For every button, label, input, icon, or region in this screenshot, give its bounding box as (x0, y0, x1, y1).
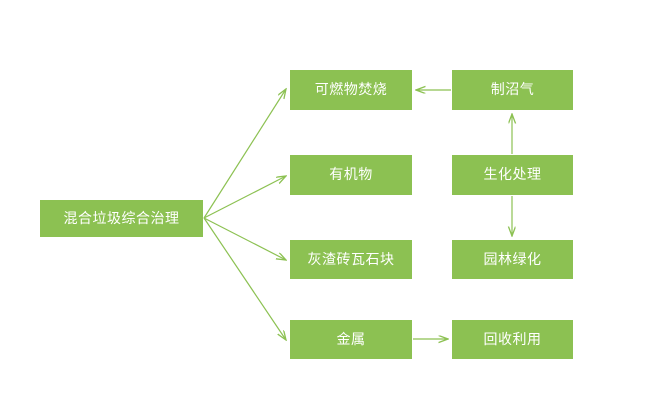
node-root[interactable]: 混合垃圾综合治理 (40, 200, 203, 237)
edge-root-to-burn (204, 89, 286, 218)
node-biogas-production[interactable]: 制沼气 (452, 70, 573, 110)
node-root-label: 混合垃圾综合治理 (64, 212, 180, 226)
node-organic-matter[interactable]: 有机物 (290, 155, 412, 195)
node-biogas-production-label: 制沼气 (491, 83, 535, 97)
node-landscaping-label: 园林绿化 (484, 253, 542, 267)
node-recycling-reuse-label: 回收利用 (484, 333, 542, 347)
node-combustible-incineration[interactable]: 可燃物焚烧 (290, 70, 412, 110)
node-organic-matter-label: 有机物 (329, 168, 373, 182)
node-combustible-incineration-label: 可燃物焚烧 (315, 83, 388, 97)
node-biochemical-treatment-label: 生化处理 (484, 168, 542, 182)
edge-root-to-organic (204, 176, 286, 218)
flowchart-canvas: 混合垃圾综合治理 可燃物焚烧 有机物 灰渣砖瓦石块 金属 制沼气 生化处理 园林… (0, 0, 648, 416)
node-recycling-reuse[interactable]: 回收利用 (452, 320, 573, 359)
node-ash-brick-tile-stone[interactable]: 灰渣砖瓦石块 (290, 240, 412, 279)
node-metal[interactable]: 金属 (290, 320, 412, 359)
node-ash-brick-tile-stone-label: 灰渣砖瓦石块 (308, 253, 395, 267)
edge-root-to-ash (204, 218, 286, 260)
node-biochemical-treatment[interactable]: 生化处理 (452, 155, 573, 195)
node-metal-label: 金属 (337, 333, 366, 347)
node-landscaping[interactable]: 园林绿化 (452, 240, 573, 279)
edge-root-to-metal (204, 218, 286, 340)
